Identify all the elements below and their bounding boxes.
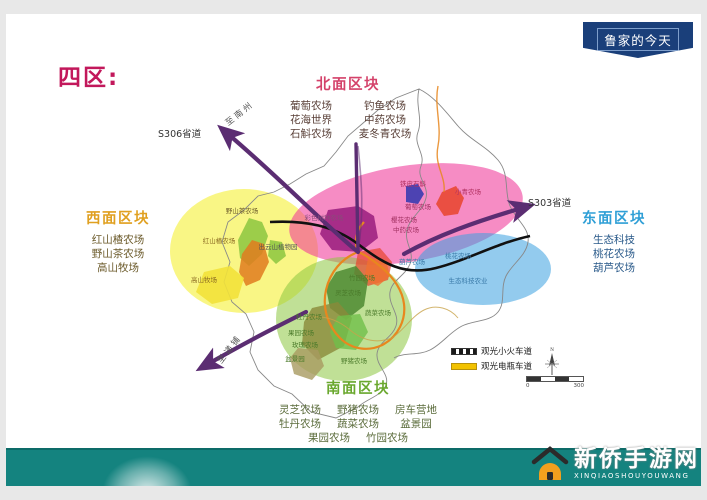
map-feature-label: 桃花农场 xyxy=(445,250,471,260)
zone-label-south: 南面区块 灵芝农场野猪农场房车营地 牡丹农场蔬菜农场盆景园 果园农场竹园农场 xyxy=(268,380,448,445)
map-feature-label: 果园农场 xyxy=(288,327,314,337)
map-feature-label: 葫芦农场 xyxy=(399,256,425,266)
zone-row: 牡丹农场蔬菜农场盆景园 xyxy=(268,417,448,431)
legend-item: 观光电瓶车道 xyxy=(451,360,532,372)
farm-name: 葡萄农场 xyxy=(274,99,348,113)
presentation-slide: 野山茶农场红山楂农场高山牧场出云山植物园彩色树种农场铁皮石斛小青农场葡萄农场樱花… xyxy=(6,14,701,486)
badge-label: 鲁家的今天 xyxy=(597,28,679,51)
zone-title-north: 北面区块 xyxy=(268,76,428,96)
watermark-sub: XINQIAOSHOUYOUWANG xyxy=(574,473,699,480)
svg-text:N: N xyxy=(550,348,554,353)
legend-swatch-cart xyxy=(451,363,477,370)
scale-segment xyxy=(541,377,555,381)
scale-segment xyxy=(527,377,541,381)
farm-name: 葫芦农场 xyxy=(554,261,674,275)
farm-name: 蔬菜农场 xyxy=(329,417,387,431)
map-feature-label: 盆景园 xyxy=(285,353,305,363)
watermark-main: 新侨手游网 xyxy=(574,448,699,471)
farm-name: 花海世界 xyxy=(274,113,348,127)
farm-name: 钓鱼农场 xyxy=(348,99,422,113)
road-label-s306: S306省道 xyxy=(158,126,201,140)
map-feature-label: 牡丹农场 xyxy=(296,311,322,321)
scale-bar-graphic xyxy=(526,376,584,382)
map-feature-label: 红山楂农场 xyxy=(203,235,236,245)
farm-name: 生态科技 xyxy=(554,233,674,247)
farm-name: 桃花农场 xyxy=(554,247,674,261)
map-feature-label: 中药农场 xyxy=(393,224,419,234)
map-feature-label: 竹园农场 xyxy=(349,272,375,282)
scale-max: 300 xyxy=(574,383,585,389)
scale-bar: 0 300 xyxy=(526,376,584,389)
map-feature-label: 高山牧场 xyxy=(191,274,217,284)
legend-label: 观光电瓶车道 xyxy=(481,360,532,372)
page-title: 四区: xyxy=(58,58,119,92)
zone-label-west: 西面区块 红山楂农场 野山茶农场 高山牧场 xyxy=(58,210,178,275)
map-feature-label: 灵芝农场 xyxy=(335,287,361,297)
scale-numbers: 0 300 xyxy=(526,383,584,389)
legend-label: 观光小火车道 xyxy=(481,345,532,357)
map-legend: 观光小火车道 观光电瓶车道 xyxy=(451,345,532,375)
watermark-text: 新侨手游网 XINQIAOSHOUYOUWANG xyxy=(574,448,699,480)
zone-row: 果园农场竹园农场 xyxy=(268,431,448,445)
map-feature-label: 野猪农场 xyxy=(341,355,367,365)
watermark: 新侨手游网 XINQIAOSHOUYOUWANG xyxy=(530,444,699,484)
farm-name: 石斛农场 xyxy=(274,127,348,141)
house-wifi-logo-icon xyxy=(530,444,570,484)
compass-rose-icon: N xyxy=(539,344,565,378)
legend-swatch-train xyxy=(451,348,477,355)
farm-name: 中药农场 xyxy=(348,113,422,127)
zone-title-west: 西面区块 xyxy=(58,210,178,230)
farm-name: 麦冬青农场 xyxy=(348,127,422,141)
farm-name: 房车营地 xyxy=(387,403,445,417)
zone-label-north: 北面区块 葡萄农场钓鱼农场 花海世界中药农场 石斛农场麦冬青农场 xyxy=(268,76,428,141)
farm-name: 灵芝农场 xyxy=(271,403,329,417)
farm-name: 果园农场 xyxy=(300,431,358,445)
road-vertical-spine xyxy=(356,144,358,252)
map-feature-label: 铁皮石斛 xyxy=(400,178,426,188)
zone-row: 石斛农场麦冬青农场 xyxy=(268,127,428,141)
map-feature-label: 樱花农场 xyxy=(391,214,417,224)
farm-name: 牡丹农场 xyxy=(271,417,329,431)
legend-item: 观光小火车道 xyxy=(451,345,532,357)
zone-row: 灵芝农场野猪农场房车营地 xyxy=(268,403,448,417)
map-feature-label: 葡萄农场 xyxy=(405,201,431,211)
farm-name: 高山牧场 xyxy=(58,261,178,275)
farm-name: 野猪农场 xyxy=(329,403,387,417)
scale-segment xyxy=(569,377,583,381)
farm-name: 盆景园 xyxy=(387,417,445,431)
map-feature-label: 彩色树种农场 xyxy=(305,212,344,222)
map-feature-label: 生态科技农业 xyxy=(449,275,488,285)
road-label-s303: S303省道 xyxy=(528,195,571,209)
farm-name: 野山茶农场 xyxy=(58,247,178,261)
map-feature-label: 野山茶农场 xyxy=(226,205,259,215)
map-feature-label: 小青农场 xyxy=(455,186,481,196)
zone-row: 葡萄农场钓鱼农场 xyxy=(268,99,428,113)
zone-title-east: 东面区块 xyxy=(554,210,674,230)
zone-row: 花海世界中药农场 xyxy=(268,113,428,127)
zone-label-east: 东面区块 生态科技 桃花农场 葫芦农场 xyxy=(554,210,674,275)
farm-name: 竹园农场 xyxy=(358,431,416,445)
map-feature-label: 出云山植物园 xyxy=(259,241,298,251)
farm-name: 红山楂农场 xyxy=(58,233,178,247)
map-feature-label: 玫瑰农场 xyxy=(292,339,318,349)
footer-swoosh-decoration xyxy=(102,456,192,486)
zone-title-south: 南面区块 xyxy=(268,380,448,400)
scale-min: 0 xyxy=(526,383,530,389)
scale-segment xyxy=(555,377,569,381)
map-feature-label: 蔬菜农场 xyxy=(365,307,391,317)
